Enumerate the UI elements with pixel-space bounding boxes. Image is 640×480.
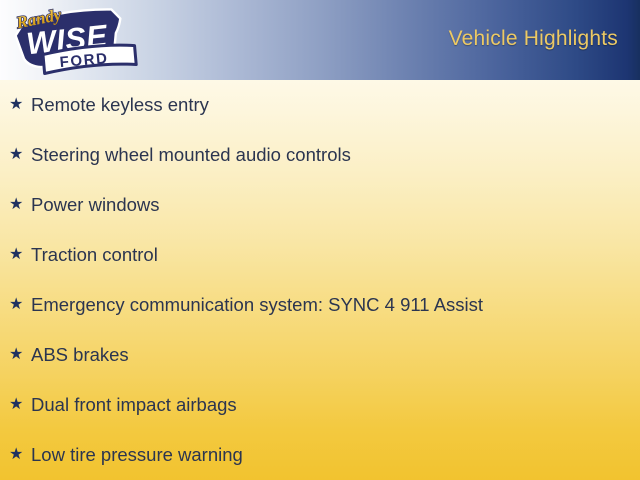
list-item: ★ Steering wheel mounted audio controls: [0, 130, 640, 180]
list-item: ★ Low tire pressure warning: [0, 430, 640, 480]
list-item-label: Traction control: [31, 245, 158, 265]
randy-wise-ford-logo-icon: WISE Randy FORD: [4, 2, 140, 80]
list-item-label: Emergency communication system: SYNC 4 9…: [31, 295, 483, 315]
star-bullet-icon: ★: [9, 347, 31, 363]
list-item-label: Remote keyless entry: [31, 95, 209, 115]
dealership-logo: WISE Randy FORD: [4, 2, 140, 80]
list-item: ★ ABS brakes: [0, 330, 640, 380]
star-bullet-icon: ★: [9, 197, 31, 213]
header-bar: WISE Randy FORD Vehicle Highlights: [0, 0, 640, 80]
list-item: ★ Remote keyless entry: [0, 80, 640, 130]
list-item-label: Dual front impact airbags: [31, 395, 237, 415]
list-item-label: ABS brakes: [31, 345, 129, 365]
list-item: ★ Power windows: [0, 180, 640, 230]
list-item: ★ Dual front impact airbags: [0, 380, 640, 430]
vehicle-highlights-list: ★ Remote keyless entry ★ Steering wheel …: [0, 80, 640, 480]
list-item-label: Low tire pressure warning: [31, 445, 243, 465]
star-bullet-icon: ★: [9, 297, 31, 313]
vehicle-highlights-slide: WISE Randy FORD Vehicle Highlights ★ Rem…: [0, 0, 640, 480]
star-bullet-icon: ★: [9, 447, 31, 463]
logo-ford-text: FORD: [59, 50, 109, 71]
list-item: ★ Traction control: [0, 230, 640, 280]
list-item-label: Steering wheel mounted audio controls: [31, 145, 351, 165]
list-item-label: Power windows: [31, 195, 160, 215]
page-title: Vehicle Highlights: [449, 27, 618, 51]
star-bullet-icon: ★: [9, 247, 31, 263]
star-bullet-icon: ★: [9, 397, 31, 413]
star-bullet-icon: ★: [9, 147, 31, 163]
list-item: ★ Emergency communication system: SYNC 4…: [0, 280, 640, 330]
star-bullet-icon: ★: [9, 97, 31, 113]
